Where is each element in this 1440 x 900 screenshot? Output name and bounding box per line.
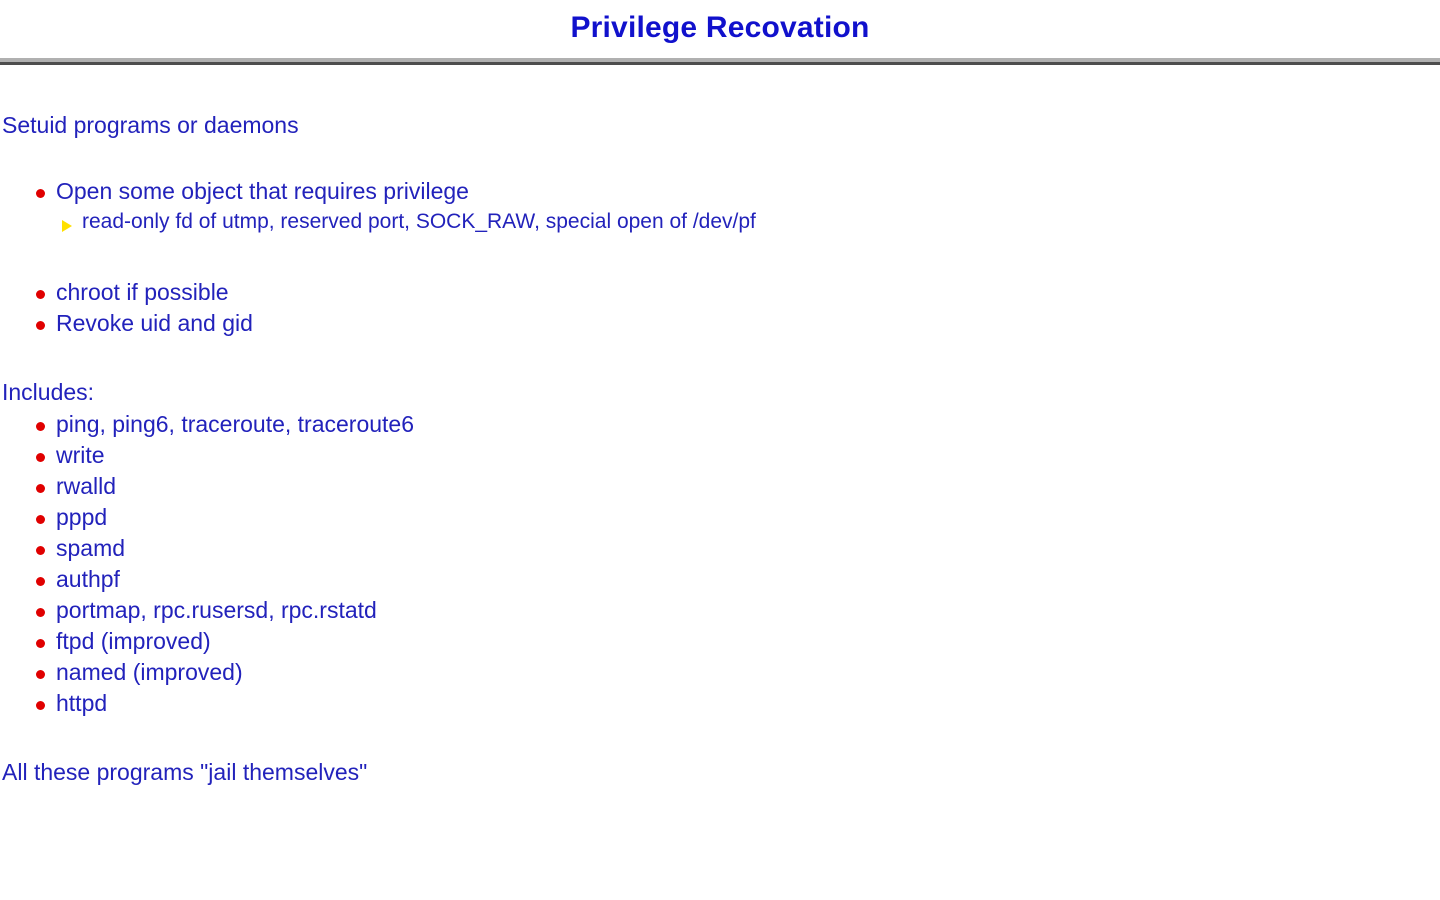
- item-ping-label: ping, ping6, traceroute, traceroute6: [56, 411, 414, 437]
- bullet-dot-icon: [36, 608, 45, 617]
- bullet-triangle-icon: [62, 220, 72, 232]
- bullet-dot-icon: [36, 701, 45, 710]
- bullet-dot-icon: [36, 515, 45, 524]
- heading-includes-label: Includes:: [2, 379, 94, 405]
- item-revoke: Revoke uid and gid: [36, 310, 253, 337]
- divider-shadow: [0, 62, 1440, 65]
- bullet-dot-icon: [36, 321, 45, 330]
- footer-jail-label: All these programs "jail themselves": [2, 759, 367, 785]
- item-portmap: portmap, rpc.rusersd, rpc.rstatd: [36, 597, 377, 624]
- bullet-dot-icon: [36, 484, 45, 493]
- heading-setuid-label: Setuid programs or daemons: [2, 112, 299, 138]
- item-chroot: chroot if possible: [36, 279, 229, 306]
- item-httpd-label: httpd: [56, 690, 107, 716]
- bullet-dot-icon: [36, 577, 45, 586]
- item-open-object-label: Open some object that requires privilege: [56, 178, 469, 204]
- bullet-dot-icon: [36, 639, 45, 648]
- item-ftpd: ftpd (improved): [36, 628, 211, 655]
- item-ftpd-label: ftpd (improved): [56, 628, 211, 654]
- page-title: Privilege Recovation: [0, 0, 1440, 56]
- item-spamd-label: spamd: [56, 535, 125, 561]
- heading-includes: Includes:: [2, 379, 94, 406]
- heading-setuid: Setuid programs or daemons: [2, 112, 299, 139]
- item-read-only: read-only fd of utmp, reserved port, SOC…: [62, 210, 756, 234]
- item-pppd-label: pppd: [56, 504, 107, 530]
- item-write-label: write: [56, 442, 105, 468]
- bullet-dot-icon: [36, 546, 45, 555]
- item-chroot-label: chroot if possible: [56, 279, 229, 305]
- footer-jail: All these programs "jail themselves": [2, 759, 367, 786]
- item-read-only-label: read-only fd of utmp, reserved port, SOC…: [82, 210, 756, 233]
- item-revoke-label: Revoke uid and gid: [56, 310, 253, 336]
- item-named-label: named (improved): [56, 659, 243, 685]
- bullet-dot-icon: [36, 670, 45, 679]
- item-rwalld: rwalld: [36, 473, 116, 500]
- item-rwalld-label: rwalld: [56, 473, 116, 499]
- item-open-object: Open some object that requires privilege: [36, 178, 469, 205]
- slide-content: Setuid programs or daemonsOpen some obje…: [0, 72, 1440, 900]
- bullet-dot-icon: [36, 189, 45, 198]
- bullet-dot-icon: [36, 453, 45, 462]
- title-divider: [0, 58, 1440, 65]
- item-write: write: [36, 442, 105, 469]
- bullet-dot-icon: [36, 422, 45, 431]
- item-authpf-label: authpf: [56, 566, 120, 592]
- item-ping: ping, ping6, traceroute, traceroute6: [36, 411, 414, 438]
- item-spamd: spamd: [36, 535, 125, 562]
- item-authpf: authpf: [36, 566, 120, 593]
- item-named: named (improved): [36, 659, 243, 686]
- bullet-dot-icon: [36, 290, 45, 299]
- item-portmap-label: portmap, rpc.rusersd, rpc.rstatd: [56, 597, 377, 623]
- item-httpd: httpd: [36, 690, 107, 717]
- item-pppd: pppd: [36, 504, 107, 531]
